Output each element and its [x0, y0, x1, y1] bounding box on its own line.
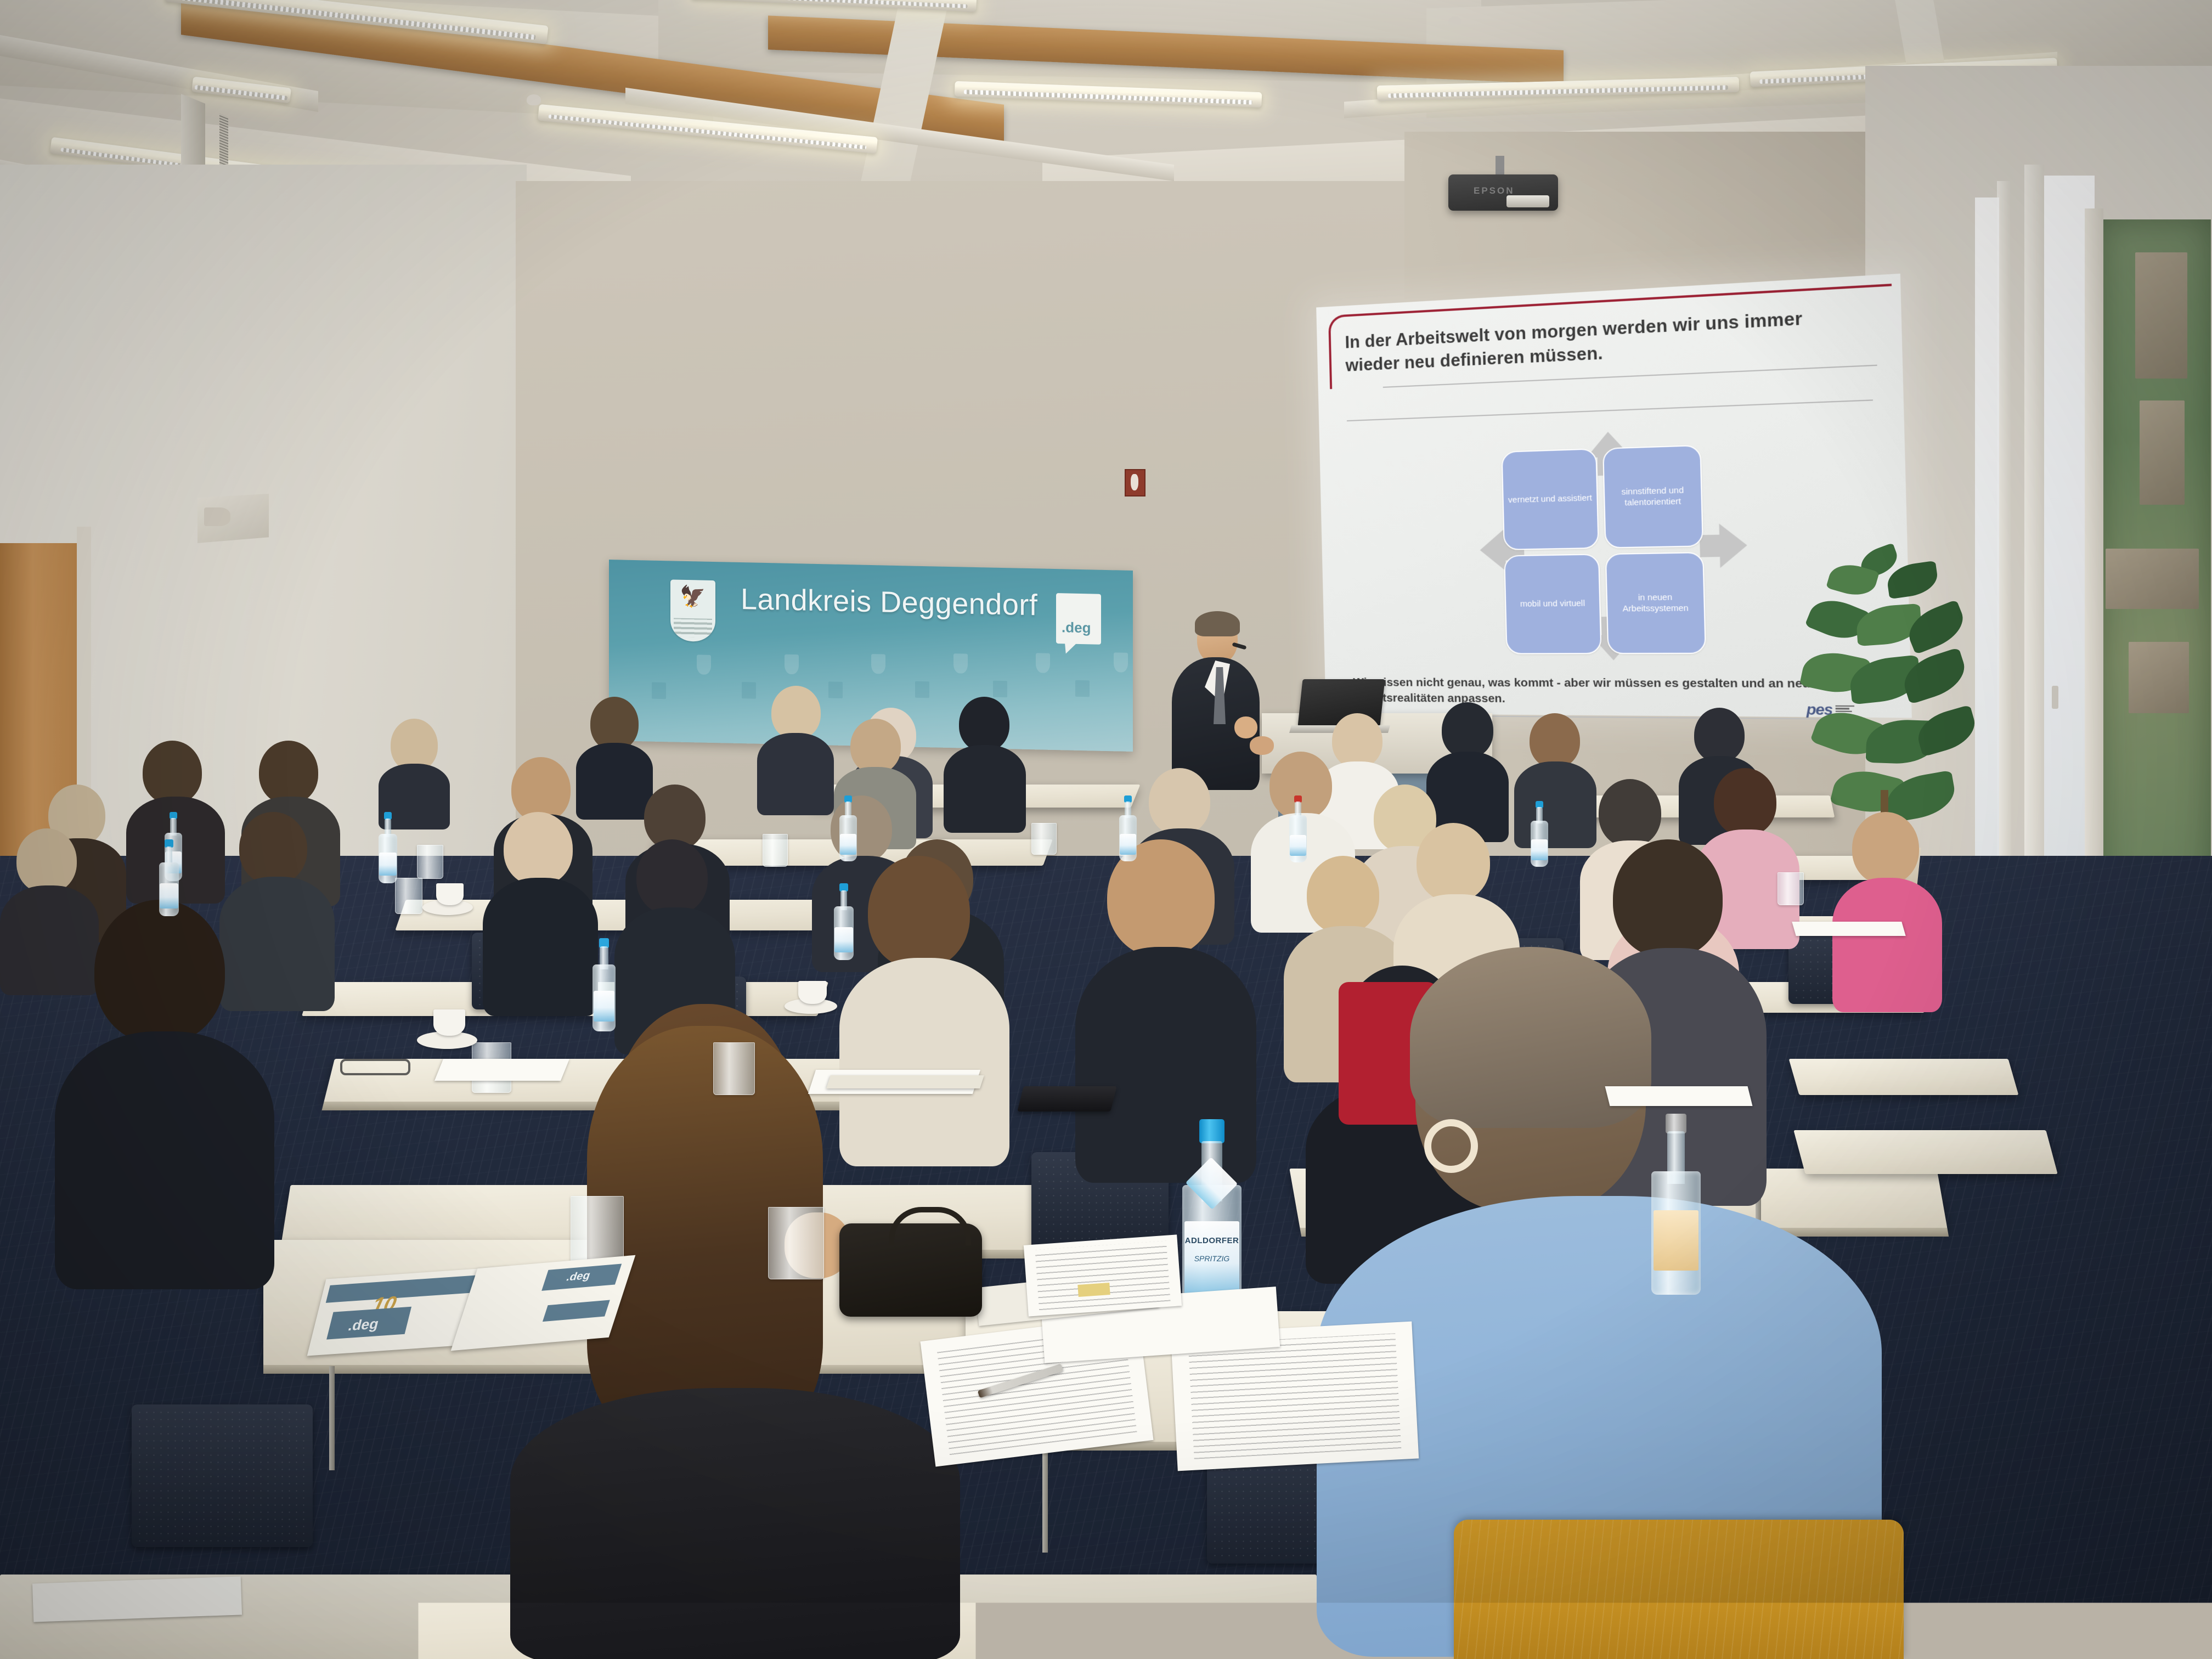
water-bottle[interactable]: [1531, 801, 1548, 867]
slide-footer-text: Wir wissen nicht genau, was kommt - aber…: [1353, 675, 1831, 709]
eagle-glyph: 🦅: [680, 586, 706, 608]
quadrant-box-bottom-left: mobil und virtuell: [1504, 554, 1602, 654]
person-head: [1442, 702, 1493, 758]
bottle-label: [1654, 1210, 1699, 1271]
table-leg: [1042, 1443, 1048, 1553]
bottle-label: [1120, 834, 1136, 855]
mural-frame: [2085, 208, 2103, 955]
drinking-glass[interactable]: [417, 845, 443, 879]
quadrant-box-bottom-right: in neuen Arbeitssystemen: [1605, 552, 1706, 654]
drinking-glass[interactable]: [1778, 872, 1804, 905]
person-head: [1694, 708, 1745, 763]
brochure-deg-logo: .deg: [565, 1269, 592, 1284]
coat-of-arms-icon: 🦅: [670, 579, 715, 642]
projector: EPSON: [1448, 174, 1558, 211]
banner-watermark-bubble: [1075, 680, 1090, 697]
water-bottle[interactable]: [592, 938, 616, 1031]
bottle-label: [379, 853, 396, 876]
coffee-cup[interactable]: [433, 1009, 465, 1036]
drinking-glass[interactable]: [713, 1042, 755, 1095]
window-frame: [2024, 165, 2044, 971]
person-body: [510, 1388, 960, 1659]
water-bottle[interactable]: [379, 812, 397, 883]
paper-sheet[interactable]: [826, 1075, 984, 1088]
printed-document[interactable]: [1024, 1234, 1182, 1316]
quadrant-diagram: vernetzt und assistiert sinnstiftend und…: [1501, 430, 1729, 658]
quadrant-label: mobil und virtuell: [1520, 599, 1585, 610]
tablet-device[interactable]: [1017, 1086, 1116, 1111]
quadrant-box-top-left: vernetzt und assistiert: [1501, 448, 1599, 550]
person-head: [959, 697, 1009, 752]
plant-leaf: [1913, 704, 1980, 757]
presenter-hand: [1234, 716, 1257, 738]
deg-bubble-logo: .deg: [1056, 593, 1101, 645]
person-head: [1417, 823, 1490, 902]
audience-person: [944, 697, 1026, 828]
drinking-glass[interactable]: [763, 834, 788, 867]
bottle-cap: [1666, 1114, 1686, 1133]
person-head: [868, 856, 970, 969]
bottle-label: [1531, 839, 1547, 860]
quadrant-label: sinnstiftend und talentorientiert: [1608, 485, 1697, 509]
audience-person: [55, 900, 274, 1284]
quadrant-label: in neuen Arbeitssystemen: [1611, 592, 1700, 614]
drinking-glass[interactable]: [395, 878, 422, 914]
coffee-cup[interactable]: [798, 981, 827, 1004]
person-head: [771, 686, 821, 740]
chair[interactable]: [132, 1404, 313, 1547]
banner-watermark-bubble: [915, 681, 929, 698]
paper-lines: [1035, 1241, 1171, 1310]
mural-photo: [2140, 400, 2185, 505]
person-head: [94, 900, 225, 1043]
person-head: [1613, 839, 1723, 958]
brochure-deg-logo: .deg: [346, 1315, 380, 1334]
bottle-label: [160, 883, 178, 909]
person-head: [239, 812, 307, 884]
mural-photo: [2106, 549, 2199, 609]
person-body: [944, 745, 1026, 833]
presenter-hair: [1195, 611, 1240, 636]
person-head: [850, 719, 901, 774]
paper-sheet[interactable]: [435, 1059, 569, 1081]
drinking-glass[interactable]: [571, 1196, 624, 1263]
drinking-glass[interactable]: [1031, 823, 1057, 855]
audience-person: [483, 812, 598, 1015]
coffee-cup[interactable]: [436, 883, 464, 905]
bottle-label: [840, 834, 856, 855]
window-handle[interactable]: [2052, 686, 2058, 709]
photo-scene: EPSON In der Arbeitswelt von morgen werd…: [0, 0, 2212, 1659]
fire-extinguisher-sign: [1125, 469, 1145, 496]
projector-brand-label: EPSON: [1474, 185, 1515, 196]
person-head: [143, 741, 202, 804]
paper-sheet[interactable]: [1605, 1086, 1753, 1106]
banner-watermark-bubble: [742, 682, 756, 699]
paper-sheet[interactable]: [1792, 922, 1905, 936]
brochure[interactable]: .deg: [451, 1255, 636, 1351]
water-bottle[interactable]: [1289, 795, 1307, 862]
bottle-label: [834, 927, 853, 952]
sticky-note: [1077, 1283, 1110, 1297]
table-leg: [329, 1366, 335, 1470]
bottle-variant-text: SPRITZIG: [1184, 1254, 1239, 1263]
banner-watermark-crest: [785, 654, 799, 675]
water-bottle[interactable]: [834, 883, 854, 960]
banner-watermark-bubble: [652, 682, 666, 699]
mustard-jacket-texture: [1454, 1520, 1904, 1659]
banner-watermark-crest: [871, 654, 885, 674]
person-head: [259, 741, 318, 804]
paper-lines: [1188, 1333, 1402, 1459]
drinking-glass[interactable]: [768, 1207, 824, 1279]
quadrant-label: vernetzt und assistiert: [1508, 493, 1592, 506]
paper-sheet[interactable]: [32, 1576, 242, 1622]
banner-watermark-crest: [697, 654, 711, 675]
projector-lens: [1506, 195, 1549, 207]
wall-mural: [2101, 219, 2211, 944]
chair-mesh: [136, 1409, 308, 1543]
bottle-label: [1290, 835, 1306, 856]
plant-leaf: [1885, 561, 1939, 599]
crest-waves: [674, 618, 712, 637]
person-head: [16, 828, 77, 893]
person-head: [1852, 812, 1919, 884]
water-bottle[interactable]: [1651, 1114, 1701, 1295]
ceiling-sensor: [1448, 16, 1462, 26]
person-head: [1149, 768, 1210, 835]
eyeglasses[interactable]: [340, 1059, 410, 1075]
brochure-panel: [326, 1274, 487, 1303]
banner-watermark-crest: [953, 653, 968, 674]
person-head: [1307, 856, 1379, 934]
arrow-right-icon: [1699, 523, 1747, 568]
bottle-brand-text: ADLDORFER: [1184, 1236, 1239, 1245]
banner-watermark-crest: [1114, 652, 1128, 673]
mural-photo: [2129, 642, 2189, 713]
person-head: [636, 839, 708, 915]
person-head: [1530, 713, 1580, 768]
bottle-label: [594, 991, 615, 1022]
ceiling-sensor: [527, 94, 541, 105]
water-bottle[interactable]: [1119, 795, 1137, 861]
banner-watermark-crest: [1036, 653, 1050, 673]
loudspeaker-cone: [204, 507, 230, 526]
slide-divider: [1347, 399, 1873, 421]
person-head: [504, 812, 573, 885]
quadrant-box-top-right: sinnstiftend und talentorientiert: [1602, 445, 1703, 549]
banner-title: Landkreis Deggendorf: [741, 582, 1037, 622]
brochure-panel: [543, 1300, 610, 1322]
person-head: [1599, 779, 1661, 847]
bottle-cap: [1199, 1119, 1224, 1143]
hoop-earring-icon: [1424, 1119, 1478, 1173]
person-body: [483, 878, 598, 1016]
mural-photo: [2135, 252, 2187, 379]
water-bottle[interactable]: [839, 795, 857, 861]
person-body: [55, 1031, 274, 1289]
banner-watermark-bubble: [993, 681, 1007, 698]
water-bottle[interactable]: [159, 839, 179, 916]
deg-logo-label: .deg: [1062, 619, 1091, 636]
person-head: [1714, 768, 1776, 836]
audience-person: [757, 686, 834, 812]
